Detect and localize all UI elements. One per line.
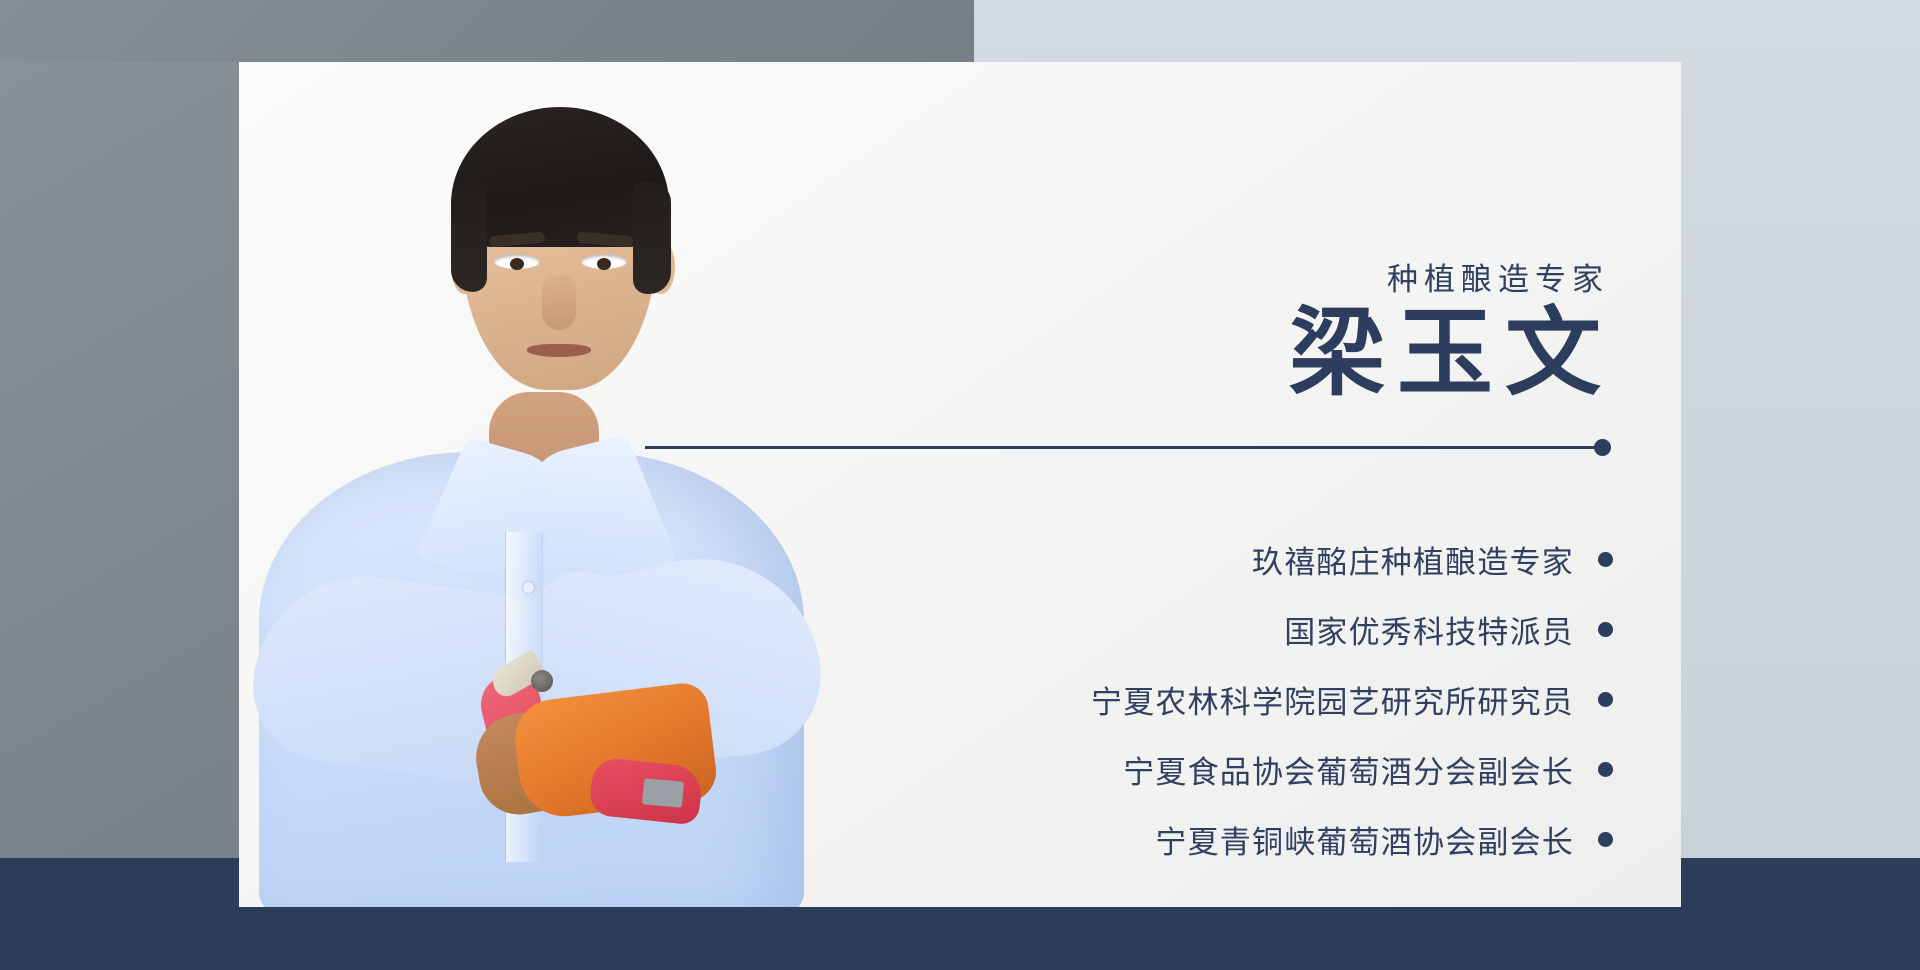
divider-end-dot-icon: [1594, 439, 1611, 456]
hair-side-right: [633, 182, 671, 294]
credential-item: 国家优秀科技特派员: [1284, 607, 1613, 652]
shirt-button: [523, 582, 534, 593]
poster-canvas: 种植酿造专家 梁玉文 玖禧酩庄种植酿造专家 国家优秀科技特派员 宁夏农林科学院园…: [0, 0, 1920, 970]
pruning-shears-label: [642, 778, 684, 807]
pupil-right: [597, 258, 611, 270]
expert-portrait-photo: [239, 62, 839, 907]
credential-item: 宁夏青铜峡葡萄酒协会副会长: [1155, 817, 1613, 862]
hair-side-left: [451, 182, 487, 292]
eye-left: [494, 254, 540, 269]
expert-subtitle: 种植酿造专家: [1387, 254, 1609, 299]
horizontal-divider: [645, 446, 1601, 449]
eye-right: [581, 254, 627, 269]
credential-label: 玖禧酩庄种植酿造专家: [1252, 537, 1574, 582]
nose: [542, 274, 576, 330]
bullet-dot-icon: [1598, 692, 1613, 707]
credential-item: 宁夏食品协会葡萄酒分会副会长: [1123, 747, 1613, 792]
bullet-dot-icon: [1598, 832, 1613, 847]
pupil-left: [510, 258, 524, 270]
credential-label: 宁夏食品协会葡萄酒分会副会长: [1123, 747, 1574, 792]
bullet-dot-icon: [1598, 552, 1613, 567]
bullet-dot-icon: [1598, 622, 1613, 637]
profile-card: 种植酿造专家 梁玉文 玖禧酩庄种植酿造专家 国家优秀科技特派员 宁夏农林科学院园…: [239, 62, 1681, 907]
background-gray-top-left: [0, 0, 974, 62]
credential-list: 玖禧酩庄种植酿造专家 国家优秀科技特派员 宁夏农林科学院园艺研究所研究员 宁夏食…: [1091, 537, 1613, 862]
credential-label: 国家优秀科技特派员: [1284, 607, 1574, 652]
credential-item: 宁夏农林科学院园艺研究所研究员: [1091, 677, 1613, 722]
bullet-dot-icon: [1598, 762, 1613, 777]
credential-item: 玖禧酩庄种植酿造专家: [1252, 537, 1613, 582]
credential-label: 宁夏农林科学院园艺研究所研究员: [1091, 677, 1574, 722]
expert-name: 梁玉文: [1289, 302, 1613, 406]
mouth: [527, 344, 591, 357]
credential-label: 宁夏青铜峡葡萄酒协会副会长: [1155, 817, 1574, 862]
pruning-shears-pivot: [531, 670, 553, 692]
